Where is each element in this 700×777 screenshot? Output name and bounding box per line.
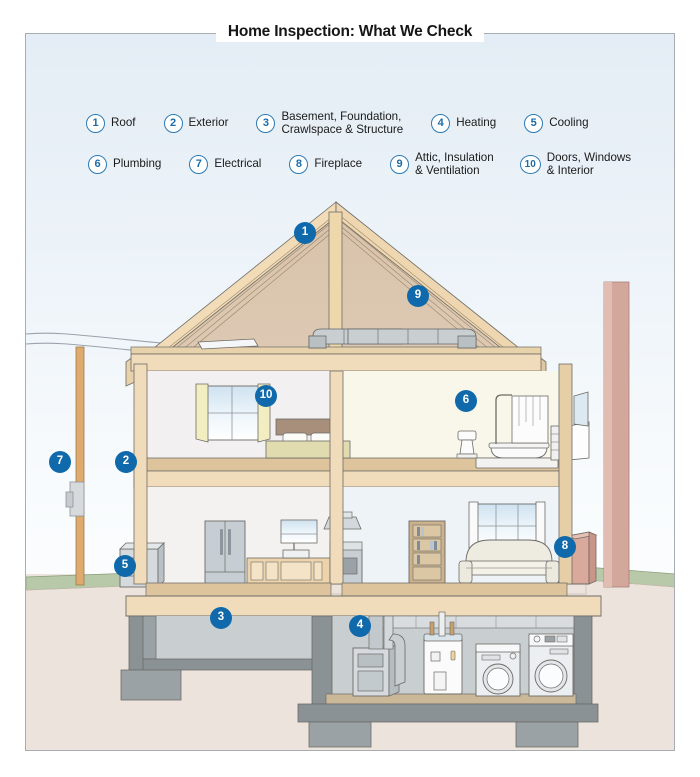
legend-number-9: 9 xyxy=(390,155,409,174)
chimney-group xyxy=(604,282,629,587)
marker-heating[interactable]: 4 xyxy=(349,615,371,637)
legend-label-exterior: Exterior xyxy=(189,117,229,130)
legend-number-7: 7 xyxy=(189,155,208,174)
legend-label-doors-windows-interior: Doors, Windows & Interior xyxy=(547,152,631,177)
legend-number-8: 8 xyxy=(289,155,308,174)
legend-label-plumbing: Plumbing xyxy=(113,158,161,171)
legend-number-4: 4 xyxy=(431,114,450,133)
legend-label-attic-insulation: Attic, Insulation & Ventilation xyxy=(415,152,494,177)
legend-label-electrical: Electrical xyxy=(214,158,261,171)
legend-row-secondary: 6 Plumbing 7 Electrical 8 Fireplace 9 At… xyxy=(88,152,631,177)
marker-plumbing[interactable]: 6 xyxy=(455,390,477,412)
legend-item-plumbing[interactable]: 6 Plumbing xyxy=(88,155,161,174)
legend-item-exterior[interactable]: 2 Exterior xyxy=(164,114,229,133)
dryer-group xyxy=(529,634,573,696)
legend-number-6: 6 xyxy=(88,155,107,174)
legend-label-heating: Heating xyxy=(456,117,496,130)
legend-number-5: 5 xyxy=(524,114,543,133)
home-inspection-infographic: 1 9 10 6 2 7 8 5 3 4 1 Roof 2 Exterior 3… xyxy=(0,0,700,777)
legend-item-heating[interactable]: 4 Heating xyxy=(431,114,496,133)
legend-number-1: 1 xyxy=(86,114,105,133)
legend-number-10: 10 xyxy=(520,155,541,174)
marker-basement-foundation[interactable]: 3 xyxy=(210,607,232,629)
legend-number-3: 3 xyxy=(256,114,275,133)
marker-doors-windows-interior[interactable]: 10 xyxy=(255,385,277,407)
legend-row-primary: 1 Roof 2 Exterior 3 Basement, Foundation… xyxy=(86,111,589,136)
legend-label-basement-foundation: Basement, Foundation, Crawlspace & Struc… xyxy=(281,111,403,136)
legend-number-2: 2 xyxy=(164,114,183,133)
legend-item-attic-insulation[interactable]: 9 Attic, Insulation & Ventilation xyxy=(390,152,494,177)
legend-item-electrical[interactable]: 7 Electrical xyxy=(189,155,261,174)
marker-exterior[interactable]: 2 xyxy=(115,451,137,473)
legend-item-basement-foundation[interactable]: 3 Basement, Foundation, Crawlspace & Str… xyxy=(256,111,403,136)
marker-electrical[interactable]: 7 xyxy=(49,451,71,473)
diagram-panel: 1 9 10 6 2 7 8 5 3 4 1 Roof 2 Exterior 3… xyxy=(25,33,675,751)
marker-attic[interactable]: 9 xyxy=(407,285,429,307)
legend-label-roof: Roof xyxy=(111,117,136,130)
marker-roof[interactable]: 1 xyxy=(294,222,316,244)
legend-label-fireplace: Fireplace xyxy=(314,158,362,171)
marker-fireplace[interactable]: 8 xyxy=(554,536,576,558)
first-floor-slab xyxy=(126,583,601,616)
legend-item-doors-windows-interior[interactable]: 10 Doors, Windows & Interior xyxy=(520,152,631,177)
legend-item-roof[interactable]: 1 Roof xyxy=(86,114,136,133)
washer-group xyxy=(476,644,520,696)
house-cutaway-illustration xyxy=(26,34,675,751)
marker-cooling[interactable]: 5 xyxy=(114,555,136,577)
legend-label-cooling: Cooling xyxy=(549,117,588,130)
legend-item-cooling[interactable]: 5 Cooling xyxy=(524,114,588,133)
legend-item-fireplace[interactable]: 8 Fireplace xyxy=(289,155,362,174)
